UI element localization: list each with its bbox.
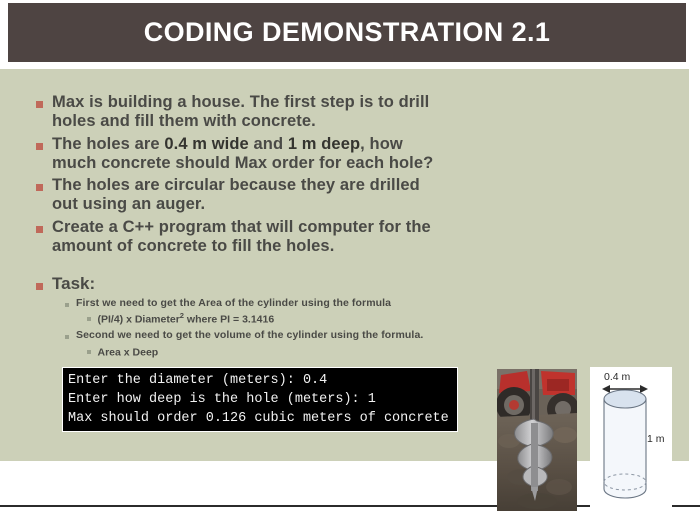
slide-root: CODING DEMONSTRATION 2.1 Max is building… — [0, 0, 700, 507]
task-sub-group: First we need to get the Area of the cyl… — [65, 297, 506, 328]
page-title: CODING DEMONSTRATION 2.1 — [144, 19, 551, 46]
bullet-item: Max is building a house. The first step … — [36, 93, 536, 132]
bullet-line-1: Max is building a house. The first step … — [52, 93, 429, 111]
cylinder-height-label: 1 m — [647, 433, 665, 445]
small-square-bullet-icon — [65, 303, 69, 307]
slide-title-bar: CODING DEMONSTRATION 2.1 — [8, 3, 686, 62]
small-square-bullet-icon — [65, 335, 69, 339]
square-bullet-icon — [36, 143, 43, 150]
bullet-line-1: The holes are circular because they are … — [52, 176, 420, 194]
square-bullet-icon — [36, 184, 43, 191]
task-formula-list: (PI/4) x Diameter2 where PI = 3.1416 — [87, 311, 506, 327]
bullet-item: The holes are 0.4 m wide and 1 m deep, h… — [36, 135, 536, 174]
task-heading: Task: — [36, 275, 506, 294]
bullet-text: Max is building a house. The first step … — [52, 93, 429, 132]
task-formula-text: (PI/4) x Diameter2 where PI = 3.1416 — [98, 311, 275, 327]
bullet-bold-width: 0.4 m wide — [164, 135, 248, 153]
terminal-output-box: Enter the diameter (meters): 0.4 Enter h… — [62, 367, 458, 432]
task-section: Task: First we need to get the Area of t… — [36, 275, 506, 362]
square-bullet-icon — [36, 226, 43, 233]
bullet-mid: and — [249, 135, 288, 153]
bullet-item: Create a C++ program that will computer … — [36, 218, 536, 257]
formula-prefix: Area x Deep — [98, 347, 159, 359]
bullet-line-2: holes and fill them with concrete. — [52, 112, 316, 130]
task-formula-item: Area x Deep — [87, 344, 506, 360]
task-sub-list: First we need to get the Area of the cyl… — [65, 297, 506, 361]
task-sub-text: Second we need to get the volume of the … — [76, 329, 423, 343]
terminal-line: Enter the diameter (meters): 0.4 — [68, 371, 452, 390]
terminal-line: Max should order 0.126 cubic meters of c… — [68, 409, 452, 428]
formula-suffix: where PI = 3.1416 — [184, 314, 274, 326]
bullet-item: The holes are circular because they are … — [36, 176, 536, 215]
bullet-bold-depth: 1 m deep — [288, 135, 360, 153]
tiny-square-bullet-icon — [87, 317, 91, 321]
bullet-prefix: The holes are — [52, 135, 164, 153]
bullet-post: , how — [360, 135, 403, 153]
square-bullet-icon — [36, 283, 43, 290]
bullet-line-2: amount of concrete to fill the holes. — [52, 237, 334, 255]
bullet-line-2: much concrete should Max order for each … — [52, 154, 433, 172]
tiny-square-bullet-icon — [87, 350, 91, 354]
slide-body-panel: Max is building a house. The first step … — [0, 69, 689, 461]
cylinder-width-label: 0.4 m — [604, 371, 630, 383]
cylinder-diagram: 0.4 m 1 m — [590, 367, 672, 511]
task-sub-group: Second we need to get the volume of the … — [65, 329, 506, 360]
bullet-text: The holes are circular because they are … — [52, 176, 420, 215]
task-sub-item: Second we need to get the volume of the … — [65, 329, 506, 343]
bullet-text: The holes are 0.4 m wide and 1 m deep, h… — [52, 135, 433, 174]
task-sub-item: First we need to get the Area of the cyl… — [65, 297, 506, 311]
task-formula-text: Area x Deep — [98, 344, 159, 360]
bullet-line-2: out using an auger. — [52, 195, 205, 213]
task-formula-item: (PI/4) x Diameter2 where PI = 3.1416 — [87, 311, 506, 327]
task-label: Task: — [52, 275, 95, 294]
main-bullet-list: Max is building a house. The first step … — [36, 93, 536, 259]
task-sub-text: First we need to get the Area of the cyl… — [76, 297, 391, 311]
bullet-line-1: Create a C++ program that will computer … — [52, 218, 431, 236]
square-bullet-icon — [36, 101, 43, 108]
auger-drill-photo — [497, 369, 577, 511]
formula-prefix: (PI/4) x Diameter — [98, 314, 180, 326]
task-formula-list: Area x Deep — [87, 344, 506, 360]
bullet-text: Create a C++ program that will computer … — [52, 218, 431, 257]
terminal-line: Enter how deep is the hole (meters): 1 — [68, 390, 452, 409]
